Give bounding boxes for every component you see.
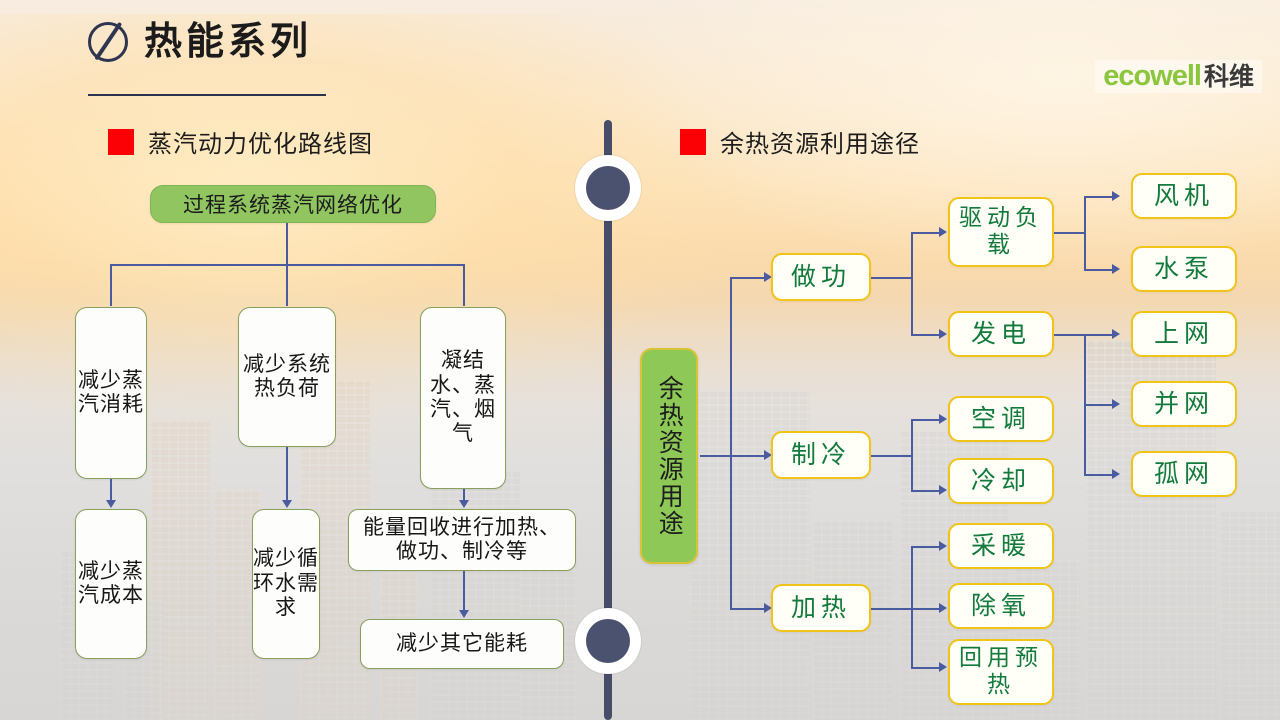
left-l2-box-3[interactable]: 能量回收进行加热、做功、制冷等 [348, 509, 576, 571]
connector-cooling-stem [871, 455, 911, 457]
brand-logo: ecowell 科维 [1095, 60, 1262, 93]
arrow-left-2 [282, 500, 292, 508]
red-square-bullet-icon [680, 129, 706, 155]
right-leaf-box-1[interactable]: 风机 [1131, 173, 1237, 219]
right-leaf-box-3[interactable]: 上网 [1131, 311, 1237, 357]
connector-gen-stem [1054, 334, 1084, 336]
left-l2-box-2[interactable]: 减少循环水需求 [252, 509, 320, 659]
red-square-bullet-icon [108, 129, 134, 155]
connector-drive-stem [1054, 232, 1084, 234]
connector-right-root-stem [700, 455, 730, 457]
right-leaf-box-2[interactable]: 水泵 [1131, 246, 1237, 292]
right-child-box-power-gen[interactable]: 发电 [948, 311, 1054, 357]
connector-cooling-bus [911, 419, 913, 491]
arrow-left-3 [459, 500, 469, 508]
connector-left-drop-1 [110, 264, 112, 306]
left-l1-box-1[interactable]: 减少蒸汽消耗 [75, 307, 147, 479]
section-heading-left-label: 蒸汽动力优化路线图 [148, 124, 373, 159]
right-child-box-deaeration[interactable]: 除氧 [948, 583, 1054, 629]
connector-left-drop-2 [286, 264, 288, 306]
left-l3-box-1[interactable]: 减少其它能耗 [360, 619, 564, 669]
connector-heating-stem [871, 608, 911, 610]
arrow-heating-1 [939, 541, 947, 551]
divider-node-top [575, 155, 641, 221]
logo-chinese-text: 科维 [1204, 65, 1254, 90]
right-root-box[interactable]: 余热资源用途 [640, 348, 698, 564]
right-branch-box-2[interactable]: 制冷 [771, 431, 871, 479]
right-leaf-box-4[interactable]: 并网 [1131, 381, 1237, 427]
connector-left-2-stem [286, 447, 288, 501]
right-leaf-box-5[interactable]: 孤网 [1131, 451, 1237, 497]
connector-left-1-stem [110, 479, 112, 501]
connector-left-drop-3 [463, 264, 465, 306]
divider-node-bottom [575, 608, 641, 674]
arrow-heating-2 [939, 603, 947, 613]
arrow-left-4 [459, 610, 469, 618]
left-l1-box-2[interactable]: 减少系统热负荷 [238, 307, 336, 447]
right-branch-box-1[interactable]: 做功 [771, 253, 871, 301]
page-title: 热能系列 [144, 23, 312, 61]
arrow-cooling-2 [939, 485, 947, 495]
connector-left-4-stem [463, 571, 465, 611]
right-child-box-drive-load[interactable]: 驱动负载 [948, 197, 1054, 267]
slashed-circle-icon [88, 22, 128, 62]
right-child-box-reuse-preheat[interactable]: 回用预热 [948, 639, 1054, 705]
connector-gongzuo-stem [871, 277, 911, 279]
connector-right-branch-3 [730, 608, 768, 610]
arrow-gen-2 [1112, 399, 1120, 409]
connector-right-branch-2 [730, 455, 768, 457]
arrow-cooling-1 [939, 414, 947, 424]
connector-drive-bus [1084, 196, 1086, 270]
section-heading-right-label: 余热资源利用途径 [720, 124, 920, 159]
arrow-gongzuo-2 [939, 329, 947, 339]
connector-gongzuo-bus [911, 232, 913, 335]
slide-canvas: 热能系列 ecowell 科维 蒸汽动力优化路线图 余热资源利用途径 过程系统蒸… [0, 0, 1280, 720]
connector-heating-bus [911, 546, 913, 668]
header-rule [88, 94, 326, 96]
right-child-box-space-heating[interactable]: 采暖 [948, 523, 1054, 569]
right-child-box-cooling[interactable]: 冷却 [948, 458, 1054, 504]
arrow-gen-3 [1112, 469, 1120, 479]
page-header: 热能系列 [88, 22, 312, 62]
arrow-drive-1 [1112, 191, 1120, 201]
connector-left-root-stem [286, 223, 288, 265]
left-root-box[interactable]: 过程系统蒸汽网络优化 [150, 185, 436, 223]
right-child-box-aircon[interactable]: 空调 [948, 396, 1054, 442]
section-heading-left: 蒸汽动力优化路线图 [108, 124, 373, 159]
section-heading-right: 余热资源利用途径 [680, 124, 920, 159]
left-l2-box-1[interactable]: 减少蒸汽成本 [75, 509, 147, 659]
left-l1-box-3[interactable]: 凝结水、蒸汽、烟气 [420, 307, 506, 489]
arrow-left-1 [106, 500, 116, 508]
arrow-heating-3 [939, 662, 947, 672]
logo-latin-text: ecowell [1103, 62, 1201, 91]
arrow-gen-1 [1112, 329, 1120, 339]
right-branch-box-3[interactable]: 加热 [771, 584, 871, 632]
arrow-gongzuo-1 [939, 227, 947, 237]
connector-right-branch-1 [730, 277, 768, 279]
connector-right-bus [730, 277, 732, 609]
arrow-drive-2 [1112, 264, 1120, 274]
